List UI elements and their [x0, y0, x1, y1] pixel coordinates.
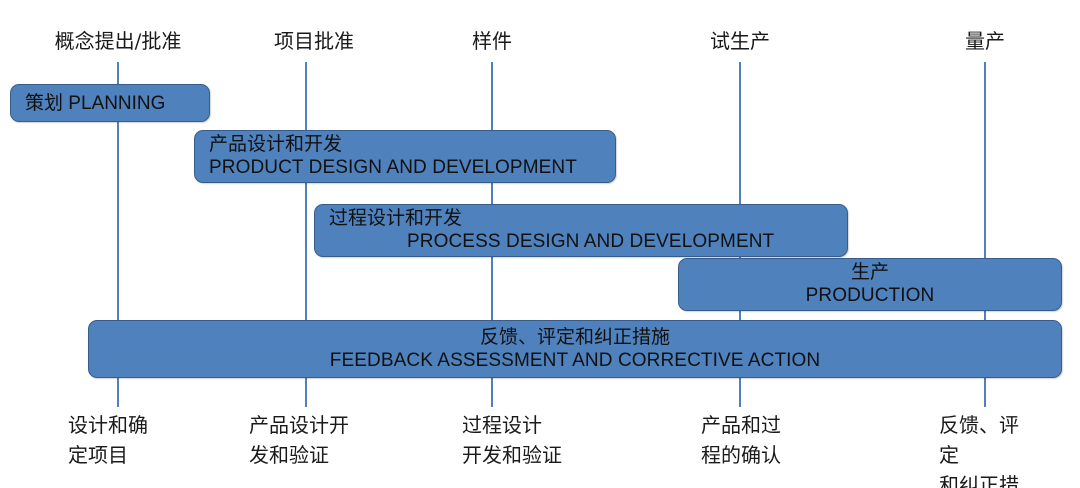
- phase-label-planning: 策划 PLANNING: [25, 91, 209, 116]
- phase-label-feedback-en: FEEDBACK ASSESSMENT AND CORRECTIVE ACTIO…: [89, 349, 1061, 373]
- phase-bar-process-design[interactable]: 过程设计和开发 PROCESS DESIGN AND DEVELOPMENT: [314, 204, 848, 257]
- apqp-timeline-diagram: 概念提出/批准 项目批准 样件 试生产 量产 策划 PLANNING 产品设计和…: [0, 0, 1080, 488]
- phase-bar-production[interactable]: 生产 PRODUCTION: [678, 258, 1062, 311]
- deliverable-label-4: 反馈、评定 和纠正措施: [939, 410, 1033, 488]
- phase-label-planning-cn: 策划: [25, 92, 63, 114]
- phase-label-production-en: PRODUCTION: [679, 284, 1061, 308]
- phase-bar-planning[interactable]: 策划 PLANNING: [10, 84, 210, 122]
- phase-bar-product-design[interactable]: 产品设计和开发 PRODUCT DESIGN AND DEVELOPMENT: [194, 130, 616, 183]
- milestone-label-2: 样件: [472, 28, 512, 54]
- phase-label-product-design-cn: 产品设计和开发: [209, 133, 615, 156]
- milestone-label-4: 量产: [965, 28, 1005, 54]
- milestone-label-3: 试生产: [710, 28, 770, 54]
- phase-label-planning-en: PLANNING: [68, 93, 165, 114]
- milestone-label-0: 概念提出/批准: [55, 28, 182, 54]
- deliverable-label-1: 产品设计开 发和验证: [249, 410, 349, 470]
- deliverable-label-0: 设计和确 定项目: [68, 410, 148, 470]
- deliverable-label-2: 过程设计 开发和验证: [462, 410, 562, 470]
- phase-label-product-design-en: PRODUCT DESIGN AND DEVELOPMENT: [209, 156, 615, 180]
- milestone-label-1: 项目批准: [274, 28, 354, 54]
- phase-label-process-design-en: PROCESS DESIGN AND DEVELOPMENT: [329, 230, 847, 254]
- phase-label-feedback-cn: 反馈、评定和纠正措施: [89, 326, 1061, 349]
- deliverable-label-3: 产品和过 程的确认: [701, 410, 781, 470]
- phase-label-production-cn: 生产: [679, 261, 1061, 284]
- phase-label-process-design-cn: 过程设计和开发: [329, 207, 847, 230]
- phase-bar-feedback[interactable]: 反馈、评定和纠正措施 FEEDBACK ASSESSMENT AND CORRE…: [88, 320, 1062, 378]
